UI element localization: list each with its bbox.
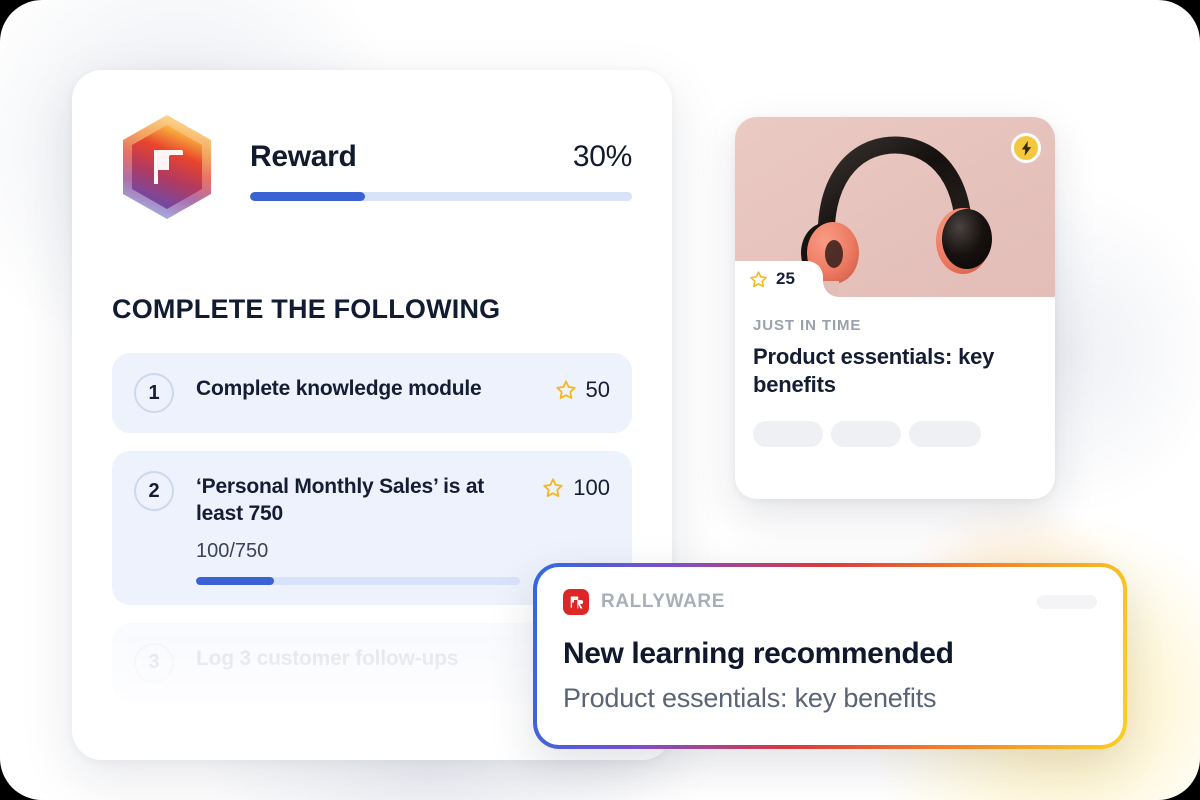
star-icon	[542, 477, 564, 499]
flag-hexagon-badge-icon	[112, 112, 222, 222]
section-heading: COMPLETE THE FOLLOWING	[112, 294, 632, 325]
task-body: Complete knowledge module	[196, 373, 533, 403]
reward-title: Reward	[250, 140, 357, 174]
task-name: Complete knowledge module	[196, 376, 533, 403]
task-name: ‘Personal Monthly Sales’ is at least 750	[196, 474, 520, 528]
toast-header: RALLYWARE	[563, 589, 1097, 615]
reward-header: Reward 30%	[112, 112, 632, 222]
task-points-value: 100	[573, 475, 610, 501]
task-points: 100	[542, 471, 610, 501]
rallyware-logo-icon	[563, 589, 589, 615]
product-title: Product essentials: key benefits	[753, 343, 1037, 399]
product-card[interactable]: 25 JUST IN TIME Product essentials: key …	[735, 117, 1055, 499]
star-count: 25	[776, 269, 795, 289]
product-body: JUST IN TIME Product essentials: key ben…	[735, 297, 1055, 447]
star-badge: 25	[735, 261, 823, 297]
task-row[interactable]: 1Complete knowledge module50	[112, 353, 632, 433]
star-icon	[555, 379, 577, 401]
task-points-value: 50	[586, 377, 610, 403]
task-progress-bar	[196, 577, 520, 585]
task-points: 50	[555, 373, 610, 403]
toast-subtitle: Product essentials: key benefits	[563, 683, 1097, 714]
task-progress-text: 100/750	[196, 540, 520, 563]
toast-title: New learning recommended	[563, 637, 1097, 671]
reward-progress-bar	[250, 192, 632, 201]
skeleton-pill	[753, 421, 823, 447]
task-number: 2	[134, 471, 174, 511]
skeleton-pills	[753, 421, 1037, 447]
product-media: 25	[735, 117, 1055, 297]
star-icon	[749, 270, 768, 289]
reward-progress-block: Reward 30%	[250, 134, 632, 201]
reward-title-row: Reward 30%	[250, 140, 632, 174]
toast-inner: RALLYWARE New learning recommended Produ…	[537, 567, 1123, 745]
star-badge-notch-curve	[823, 281, 839, 297]
reward-percent-label: 30%	[573, 140, 632, 174]
screenshot-root: Reward 30% COMPLETE THE FOLLOWING 1Compl…	[0, 0, 1200, 800]
toast-app-name: RALLYWARE	[601, 591, 725, 613]
skeleton-pill	[831, 421, 901, 447]
toast-timestamp-skeleton	[1037, 595, 1097, 609]
task-body: ‘Personal Monthly Sales’ is at least 750…	[196, 471, 520, 585]
reward-progress-fill	[250, 192, 365, 201]
task-number: 3	[134, 643, 174, 683]
product-kicker: JUST IN TIME	[753, 317, 1037, 334]
notification-toast[interactable]: RALLYWARE New learning recommended Produ…	[533, 563, 1127, 749]
task-progress-fill	[196, 577, 274, 585]
skeleton-pill	[909, 421, 981, 447]
lightning-bolt-icon	[1011, 133, 1041, 163]
task-number: 1	[134, 373, 174, 413]
